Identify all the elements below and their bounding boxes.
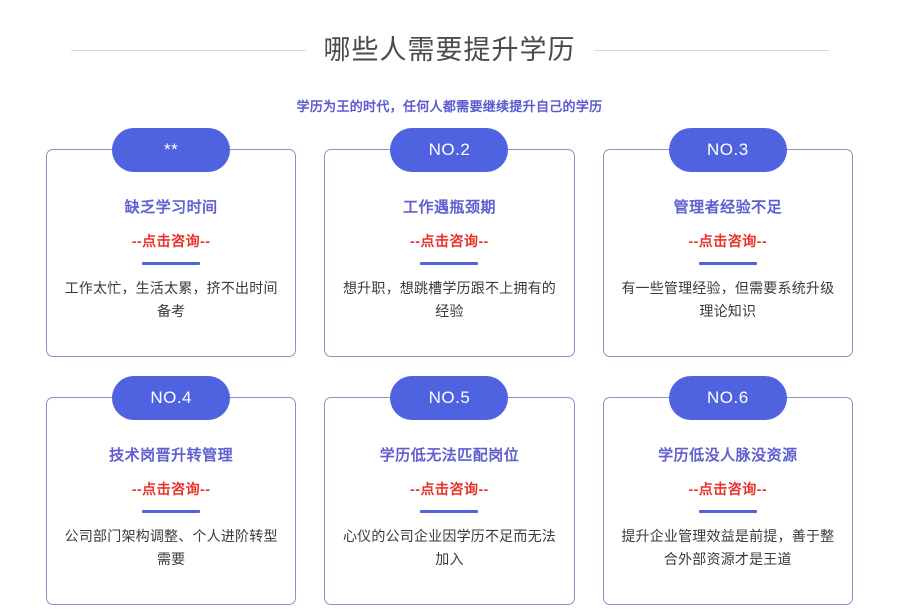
card-body-text: 提升企业管理效益是前提，善于整合外部资源才是王道	[618, 525, 838, 571]
reason-card-grid: ** 缺乏学习时间 --点击咨询-- 工作太忙，生活太累，挤不出时间备考 NO.…	[0, 149, 899, 605]
card-divider	[142, 510, 200, 513]
card-badge: NO.5	[390, 376, 508, 420]
reason-card[interactable]: ** 缺乏学习时间 --点击咨询-- 工作太忙，生活太累，挤不出时间备考	[46, 149, 296, 357]
title-rule-right	[594, 50, 829, 51]
page-header: 哪些人需要提升学历 学历为王的时代，任何人都需要继续提升自己的学历	[0, 0, 899, 115]
card-consult-link[interactable]: --点击咨询--	[618, 231, 838, 251]
reason-card[interactable]: NO.6 学历低没人脉没资源 --点击咨询-- 提升企业管理效益是前提，善于整合…	[603, 397, 853, 605]
card-consult-link[interactable]: --点击咨询--	[339, 231, 559, 251]
card-heading: 管理者经验不足	[618, 196, 838, 217]
card-divider	[420, 262, 478, 265]
card-badge: NO.3	[669, 128, 787, 172]
reason-card[interactable]: NO.2 工作遇瓶颈期 --点击咨询-- 想升职，想跳槽学历跟不上拥有的经验	[324, 149, 574, 357]
card-heading: 学历低无法匹配岗位	[339, 444, 559, 465]
card-body-text: 有一些管理经验，但需要系统升级理论知识	[618, 277, 838, 323]
card-badge: NO.4	[112, 376, 230, 420]
card-consult-link[interactable]: --点击咨询--	[61, 479, 281, 499]
reason-card[interactable]: NO.3 管理者经验不足 --点击咨询-- 有一些管理经验，但需要系统升级理论知…	[603, 149, 853, 357]
card-body-text: 心仪的公司企业因学历不足而无法加入	[339, 525, 559, 571]
card-divider	[699, 510, 757, 513]
page-title: 哪些人需要提升学历	[306, 32, 594, 68]
page-subtitle: 学历为王的时代，任何人都需要继续提升自己的学历	[0, 96, 899, 115]
page-root: 哪些人需要提升学历 学历为王的时代，任何人都需要继续提升自己的学历 ** 缺乏学…	[0, 0, 899, 612]
card-body-text: 工作太忙，生活太累，挤不出时间备考	[61, 277, 281, 323]
card-heading: 学历低没人脉没资源	[618, 444, 838, 465]
card-badge: NO.6	[669, 376, 787, 420]
card-body-text: 公司部门架构调整、个人进阶转型需要	[61, 525, 281, 571]
card-divider	[699, 262, 757, 265]
card-consult-link[interactable]: --点击咨询--	[339, 479, 559, 499]
card-consult-link[interactable]: --点击咨询--	[618, 479, 838, 499]
card-heading: 工作遇瓶颈期	[339, 196, 559, 217]
card-badge: NO.2	[390, 128, 508, 172]
title-rule-left	[71, 50, 306, 51]
card-divider	[142, 262, 200, 265]
reason-card[interactable]: NO.4 技术岗晋升转管理 --点击咨询-- 公司部门架构调整、个人进阶转型需要	[46, 397, 296, 605]
reason-card[interactable]: NO.5 学历低无法匹配岗位 --点击咨询-- 心仪的公司企业因学历不足而无法加…	[324, 397, 574, 605]
card-consult-link[interactable]: --点击咨询--	[61, 231, 281, 251]
card-heading: 技术岗晋升转管理	[61, 444, 281, 465]
card-divider	[420, 510, 478, 513]
card-badge: **	[112, 128, 230, 172]
title-row: 哪些人需要提升学历	[0, 14, 899, 86]
card-heading: 缺乏学习时间	[61, 196, 281, 217]
card-body-text: 想升职，想跳槽学历跟不上拥有的经验	[339, 277, 559, 323]
